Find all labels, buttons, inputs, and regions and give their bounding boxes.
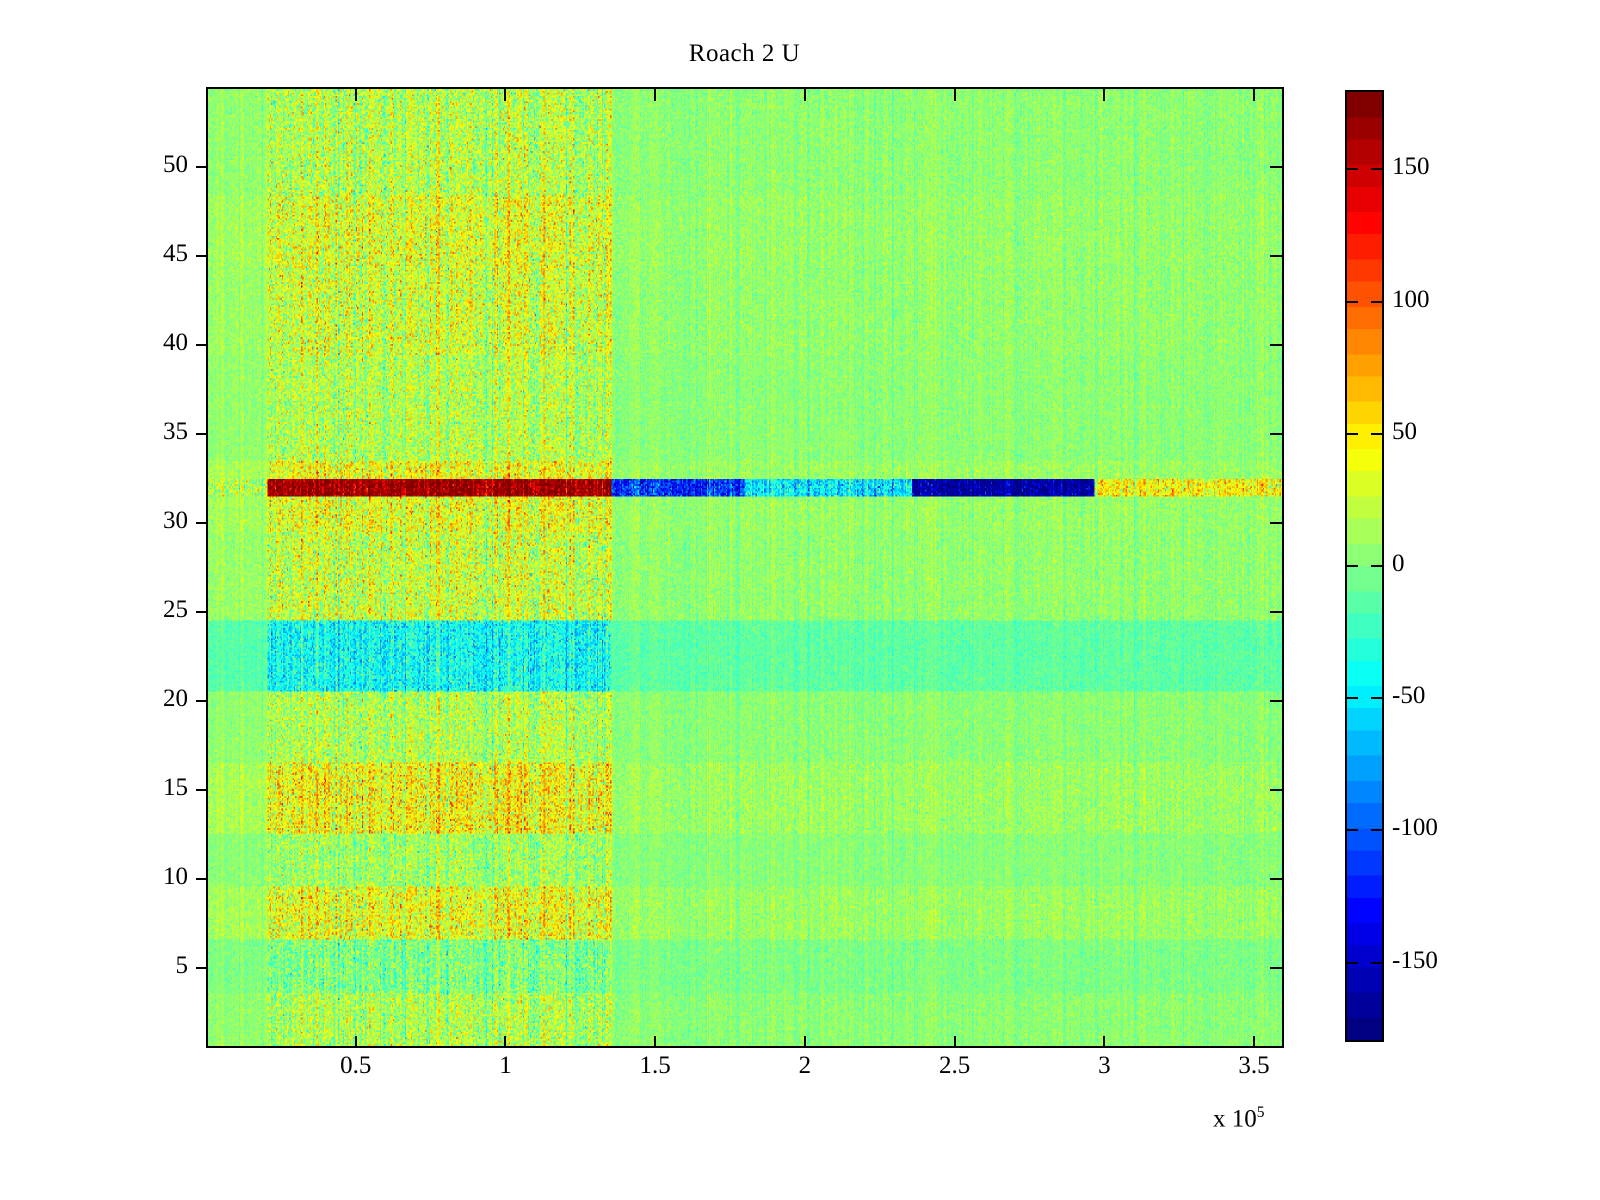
figure-window: Roach 2 U x 105 51015202530354045500.511… — [0, 0, 1600, 1200]
x-tick-mark — [504, 1036, 506, 1048]
y-tick-label-1: 10 — [163, 863, 188, 891]
x-tick-mark-inner — [504, 89, 506, 101]
y-tick-mark — [196, 789, 208, 791]
y-tick-mark-inner — [1270, 166, 1282, 168]
y-tick-mark-inner — [1270, 522, 1282, 524]
colorbar-tick-label-2: 50 — [1392, 418, 1417, 446]
x-tick-label-5: 3 — [1098, 1052, 1111, 1080]
x-tick-label-4: 2.5 — [939, 1052, 970, 1080]
colorbar-tick-label-1: 100 — [1392, 286, 1430, 314]
x-tick-mark — [804, 1036, 806, 1048]
y-tick-mark-inner — [1270, 344, 1282, 346]
y-tick-mark — [196, 344, 208, 346]
y-tick-mark — [196, 433, 208, 435]
colorbar-tick-mark-right — [1371, 168, 1382, 170]
colorbar-tick-mark — [1347, 168, 1358, 170]
colorbar-tick-mark — [1347, 301, 1358, 303]
y-tick-label-4: 25 — [163, 596, 188, 624]
x-axis-exponent-label: x 105 — [1213, 1104, 1265, 1133]
x-tick-mark — [1103, 1036, 1105, 1048]
y-tick-mark-inner — [1270, 789, 1282, 791]
x-tick-label-2: 1.5 — [640, 1052, 671, 1080]
x-tick-mark-inner — [954, 89, 956, 101]
colorbar-tick-label-3: 0 — [1392, 550, 1405, 578]
y-tick-label-5: 30 — [163, 507, 188, 535]
y-tick-mark-inner — [1270, 967, 1282, 969]
y-tick-mark — [196, 611, 208, 613]
colorbar-tick-label-4: -50 — [1392, 682, 1425, 710]
y-tick-label-3: 20 — [163, 685, 188, 713]
y-tick-label-6: 35 — [163, 418, 188, 446]
colorbar-tick-mark — [1347, 565, 1358, 567]
colorbar-tick-mark-right — [1371, 565, 1382, 567]
x-tick-mark-inner — [1103, 89, 1105, 101]
colorbar-tick-mark — [1347, 962, 1358, 964]
colorbar-tick-mark — [1347, 829, 1358, 831]
x-tick-mark — [355, 1036, 357, 1048]
y-tick-mark — [196, 522, 208, 524]
heatmap-image — [208, 89, 1282, 1046]
y-tick-label-2: 15 — [163, 774, 188, 802]
y-tick-mark-inner — [1270, 611, 1282, 613]
colorbar-tick-label-0: 150 — [1392, 153, 1430, 181]
x-tick-label-3: 2 — [799, 1052, 812, 1080]
x-tick-mark — [1253, 1036, 1255, 1048]
colorbar-tick-mark-right — [1371, 829, 1382, 831]
y-tick-mark-inner — [1270, 255, 1282, 257]
y-tick-label-8: 45 — [163, 240, 188, 268]
x-tick-label-1: 1 — [499, 1052, 512, 1080]
y-tick-mark-inner — [1270, 700, 1282, 702]
colorbar-tick-label-6: -150 — [1392, 947, 1438, 975]
y-tick-mark-inner — [1270, 433, 1282, 435]
colorbar-tick-mark-right — [1371, 962, 1382, 964]
heatmap-plot-area[interactable] — [206, 87, 1284, 1048]
colorbar-tick-mark-right — [1371, 433, 1382, 435]
y-tick-label-0: 5 — [176, 952, 189, 980]
colorbar-tick-mark — [1347, 433, 1358, 435]
x-tick-mark — [654, 1036, 656, 1048]
colorbar-tick-label-5: -100 — [1392, 814, 1438, 842]
y-tick-mark — [196, 255, 208, 257]
y-tick-mark — [196, 166, 208, 168]
y-tick-mark — [196, 967, 208, 969]
x-tick-mark — [954, 1036, 956, 1048]
y-tick-mark — [196, 878, 208, 880]
x-tick-mark-inner — [355, 89, 357, 101]
colorbar-tick-mark-right — [1371, 697, 1382, 699]
x-tick-label-0: 0.5 — [340, 1052, 371, 1080]
x-tick-mark-inner — [804, 89, 806, 101]
x-tick-mark-inner — [1253, 89, 1255, 101]
y-tick-label-9: 50 — [163, 151, 188, 179]
x-tick-label-6: 3.5 — [1238, 1052, 1269, 1080]
page-title: Roach 2 U — [0, 40, 1489, 68]
colorbar-tick-mark-right — [1371, 301, 1382, 303]
y-tick-mark-inner — [1270, 878, 1282, 880]
x-tick-mark-inner — [654, 89, 656, 101]
y-tick-mark — [196, 700, 208, 702]
colorbar-tick-mark — [1347, 697, 1358, 699]
y-tick-label-7: 40 — [163, 329, 188, 357]
